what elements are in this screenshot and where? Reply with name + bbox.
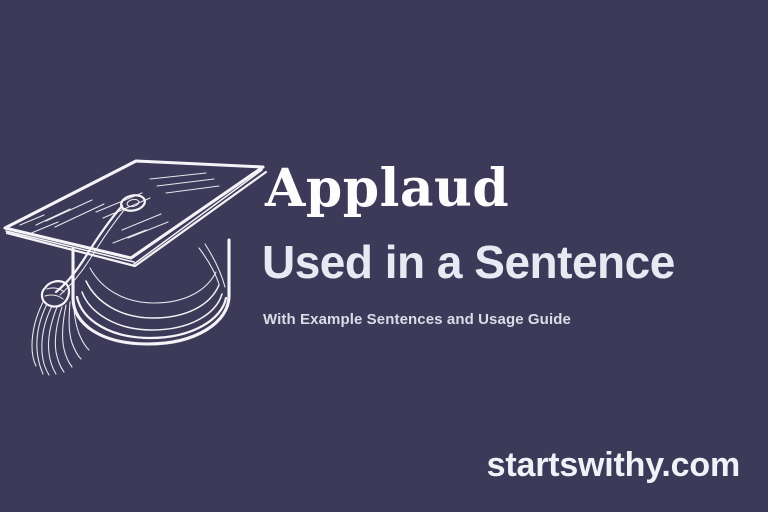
graduation-cap-icon [0, 148, 272, 374]
mortarboard-top [5, 161, 266, 266]
poster-text-block: Applaud Used in a Sentence With Example … [262, 160, 762, 330]
headline: Used in a Sentence [262, 236, 762, 288]
site-brand: startswithy.com [487, 445, 740, 485]
page-title: Applaud [262, 160, 762, 218]
tassel-strands [32, 298, 89, 375]
tassel-cord [56, 206, 125, 295]
tagline: With Example Sentences and Usage Guide [263, 310, 762, 330]
word-definition-poster: Applaud Used in a Sentence With Example … [0, 0, 768, 512]
